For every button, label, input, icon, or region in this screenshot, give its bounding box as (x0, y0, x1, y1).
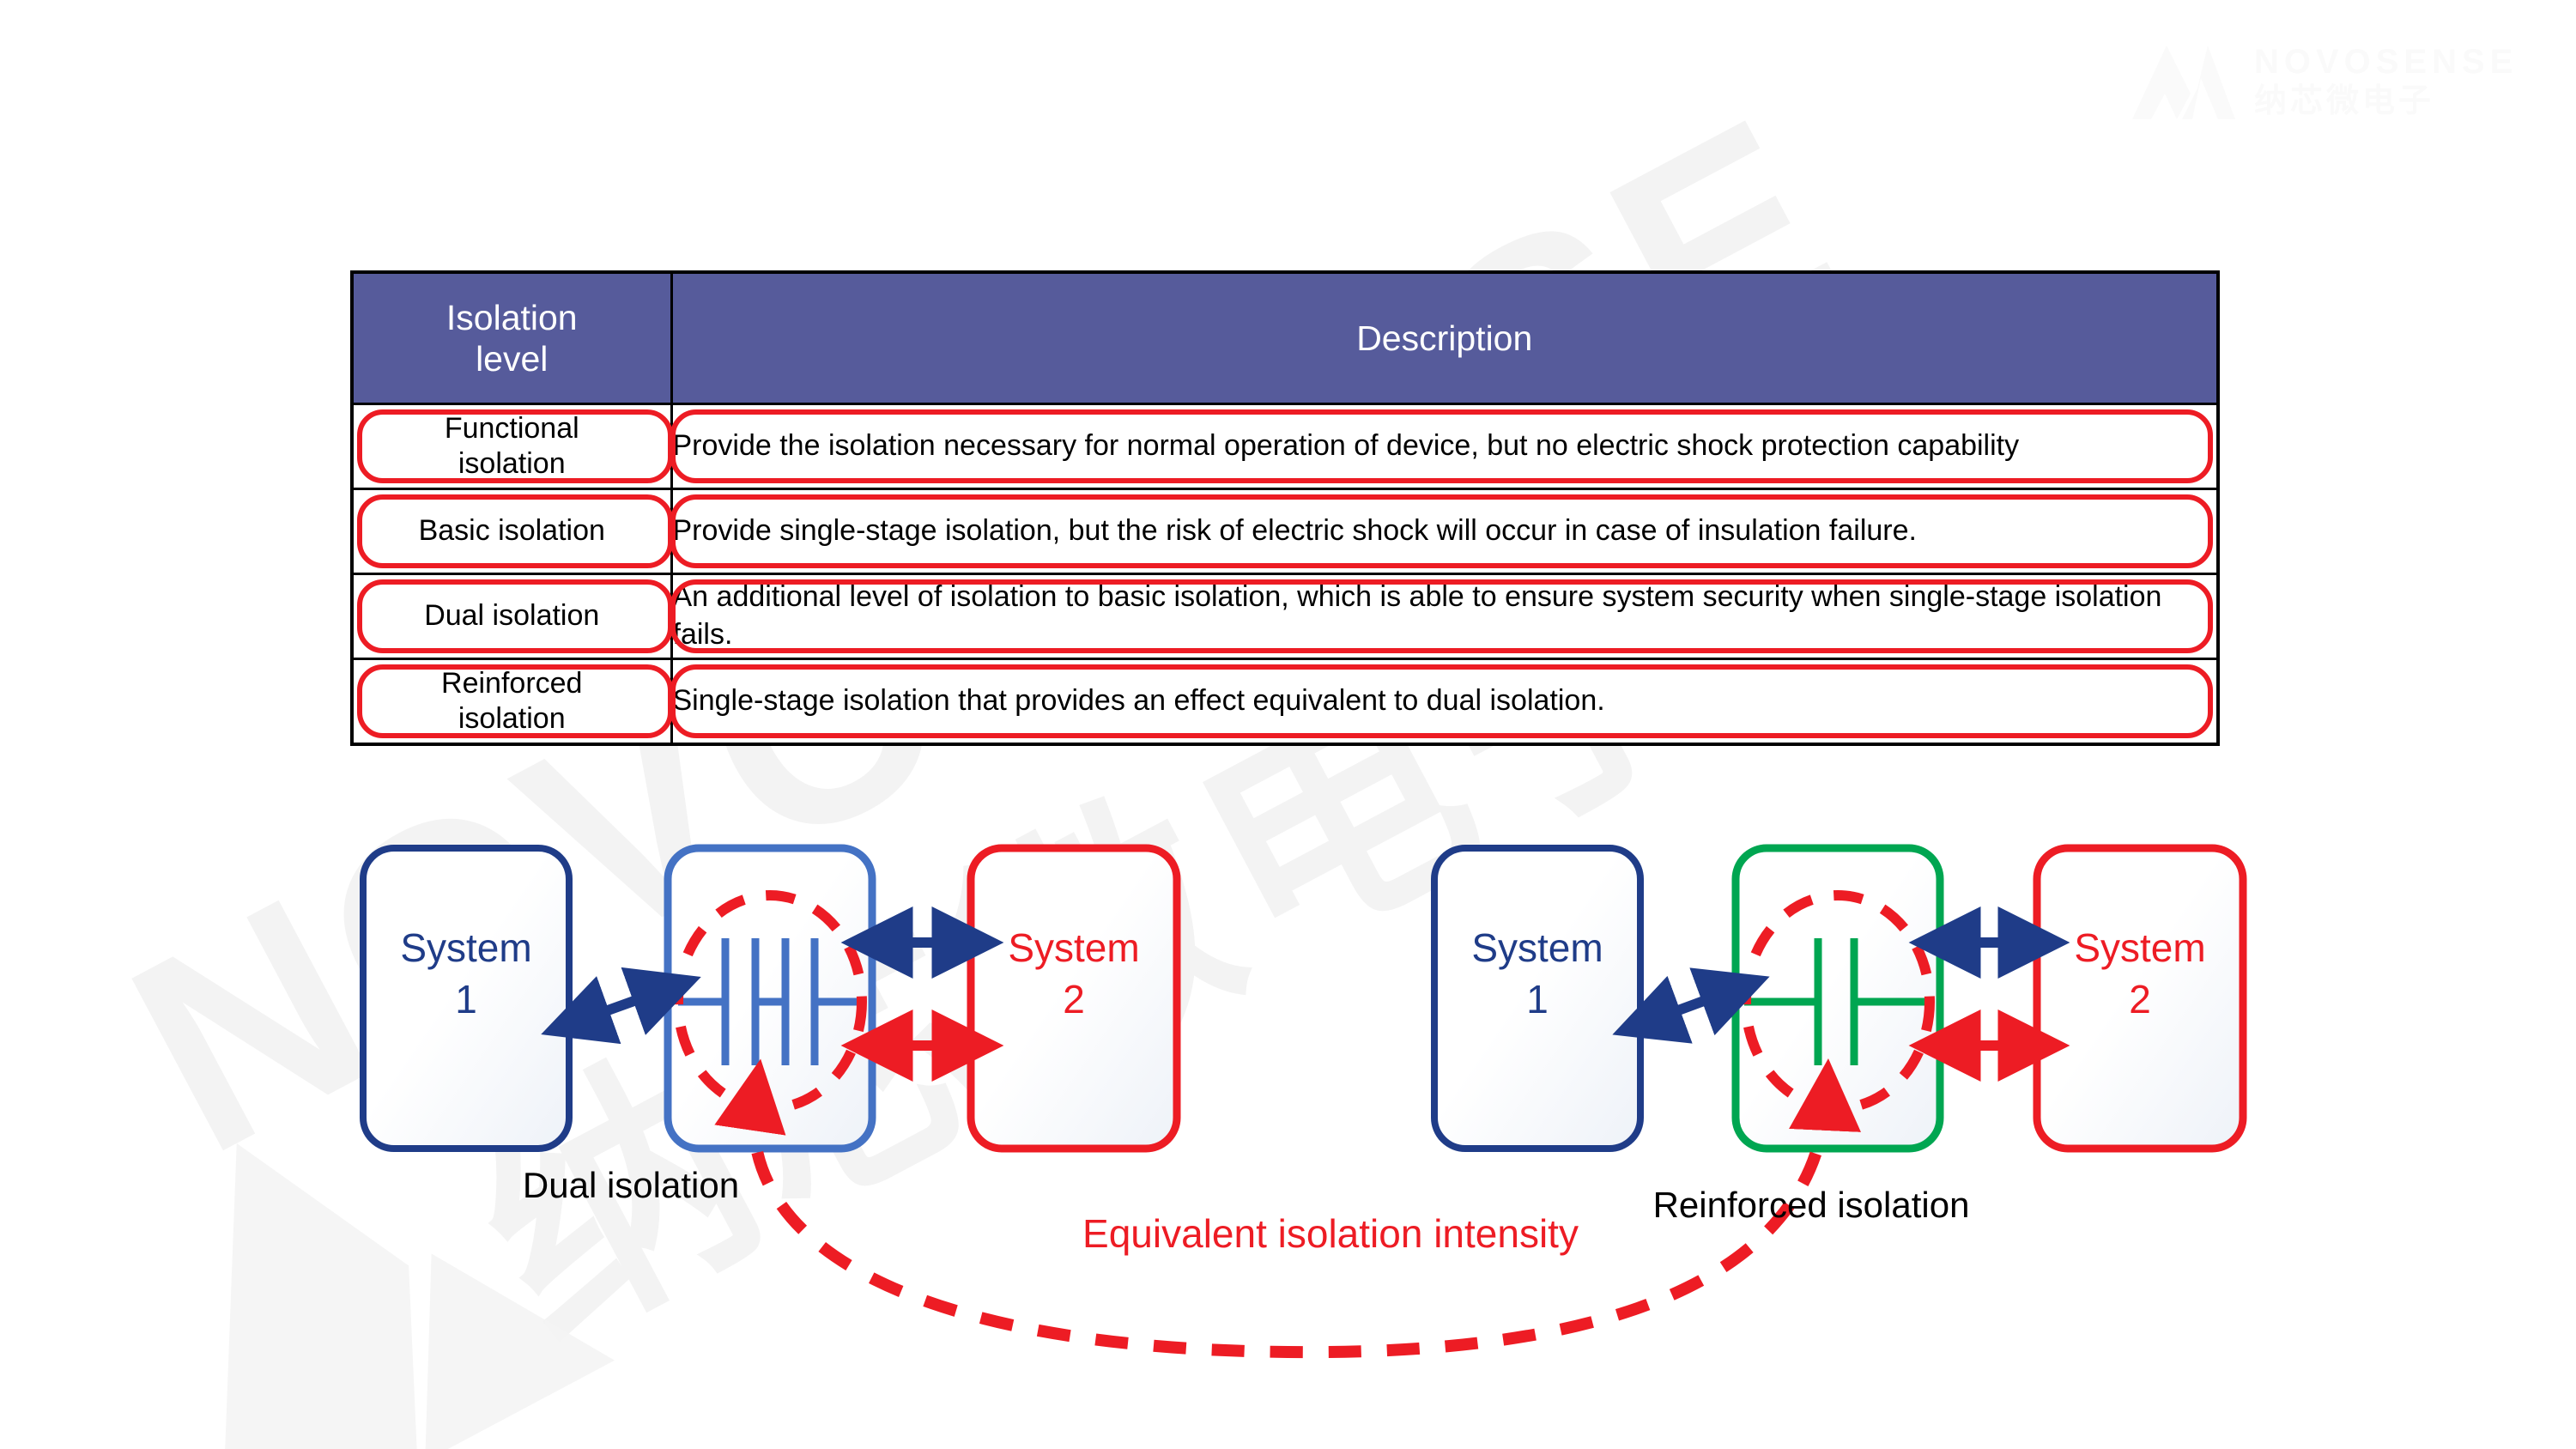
level-line2: isolation (354, 446, 670, 482)
isolation-level-table: Isolation level Description Functional i… (350, 270, 2220, 746)
cell-isolation-level: Functional isolation (352, 404, 671, 489)
table-header-row: Isolation level Description (352, 272, 2218, 404)
column-header-description: Description (671, 272, 2218, 404)
brand-name-cn: 纳芯微电子 (2254, 85, 2518, 118)
description-text: Provide single-stage isolation, but the … (673, 514, 1917, 547)
table-row: Reinforced isolation Single-stage isolat… (352, 659, 2218, 745)
cell-isolation-level: Dual isolation (352, 574, 671, 659)
column-header-isolation-level-line1: Isolation (354, 297, 670, 338)
cell-isolation-level: Reinforced isolation (352, 659, 671, 745)
isolation-diagram: System 1 System 2 System 1 (0, 837, 2576, 1449)
left-group-caption: Dual isolation (523, 1165, 739, 1205)
left-system1-label-line2: 1 (455, 977, 477, 1022)
description-text: Provide the isolation necessary for norm… (673, 429, 2020, 462)
left-dual-isolator-box (668, 848, 872, 1149)
cell-description: Provide single-stage isolation, but the … (671, 489, 2218, 574)
level-line1: Dual isolation (354, 598, 670, 634)
right-system1-box: System 1 (1434, 848, 1640, 1149)
level-line1: Reinforced (354, 666, 670, 701)
right-system2-label-line2: 2 (2129, 977, 2151, 1022)
brand-logo: NOVOSENSE 纳芯微电子 (2129, 36, 2558, 126)
table-row: Functional isolation Provide the isolati… (352, 404, 2218, 489)
brand-name-en: NOVOSENSE (2254, 45, 2518, 79)
right-system1-label-line1: System (1471, 925, 1603, 970)
cell-isolation-level: Basic isolation (352, 489, 671, 574)
left-system2-box: System 2 (971, 848, 1177, 1149)
left-system1-label-line1: System (400, 925, 531, 970)
equivalence-label: Equivalent isolation intensity (1082, 1211, 1579, 1256)
left-system2-label-line2: 2 (1063, 977, 1085, 1022)
right-group-caption: Reinforced isolation (1653, 1185, 1970, 1225)
table-row: Basic isolation Provide single-stage iso… (352, 489, 2218, 574)
left-system1-box: System 1 (363, 848, 569, 1149)
level-line1: Basic isolation (354, 513, 670, 549)
cell-description: An additional level of isolation to basi… (671, 574, 2218, 659)
right-sys1-to-isolator-arrow (1648, 990, 1734, 1022)
level-line2: isolation (354, 701, 670, 737)
description-text: An additional level of isolation to basi… (673, 580, 2162, 651)
column-header-isolation-level: Isolation level (352, 272, 671, 404)
column-header-isolation-level-line2: level (354, 338, 670, 379)
right-system1-label-line2: 1 (1526, 977, 1549, 1022)
cell-description: Provide the isolation necessary for norm… (671, 404, 2218, 489)
level-line1: Functional (354, 411, 670, 446)
novosense-logo-icon (2129, 40, 2239, 123)
cell-description: Single-stage isolation that provides an … (671, 659, 2218, 745)
right-system2-label-line1: System (2074, 925, 2205, 970)
left-system2-label-line1: System (1008, 925, 1139, 970)
left-sys1-to-isolator-arrow (577, 990, 665, 1022)
description-text: Single-stage isolation that provides an … (673, 684, 1605, 717)
right-reinforced-isolator-box (1736, 848, 1940, 1149)
right-system2-box: System 2 (2037, 848, 2243, 1149)
table-row: Dual isolation An additional level of is… (352, 574, 2218, 659)
